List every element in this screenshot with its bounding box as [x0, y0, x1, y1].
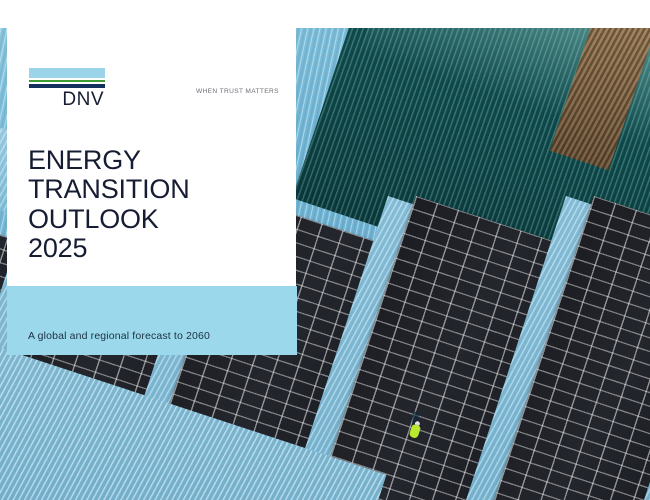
report-cover: DNV WHEN TRUST MATTERS ENERGY TRANSITION…	[0, 0, 650, 500]
page-title: ENERGY TRANSITION OUTLOOK 2025	[28, 146, 190, 264]
title-line-1: ENERGY	[28, 146, 190, 175]
dnv-logo: DNV	[29, 68, 105, 109]
title-line-3: OUTLOOK	[28, 205, 190, 234]
subtitle-panel-blue	[7, 286, 297, 355]
logo-wordmark: DNV	[29, 90, 105, 109]
title-line-2: TRANSITION	[28, 175, 190, 204]
title-line-4: 2025	[28, 234, 190, 263]
brand-tagline: WHEN TRUST MATTERS	[196, 88, 279, 95]
logo-bar-light-blue	[29, 68, 105, 78]
logo-bar-green	[29, 80, 105, 82]
logo-bar-navy	[29, 84, 105, 88]
top-white-margin	[0, 0, 650, 28]
page-subtitle: A global and regional forecast to 2060	[28, 330, 210, 342]
